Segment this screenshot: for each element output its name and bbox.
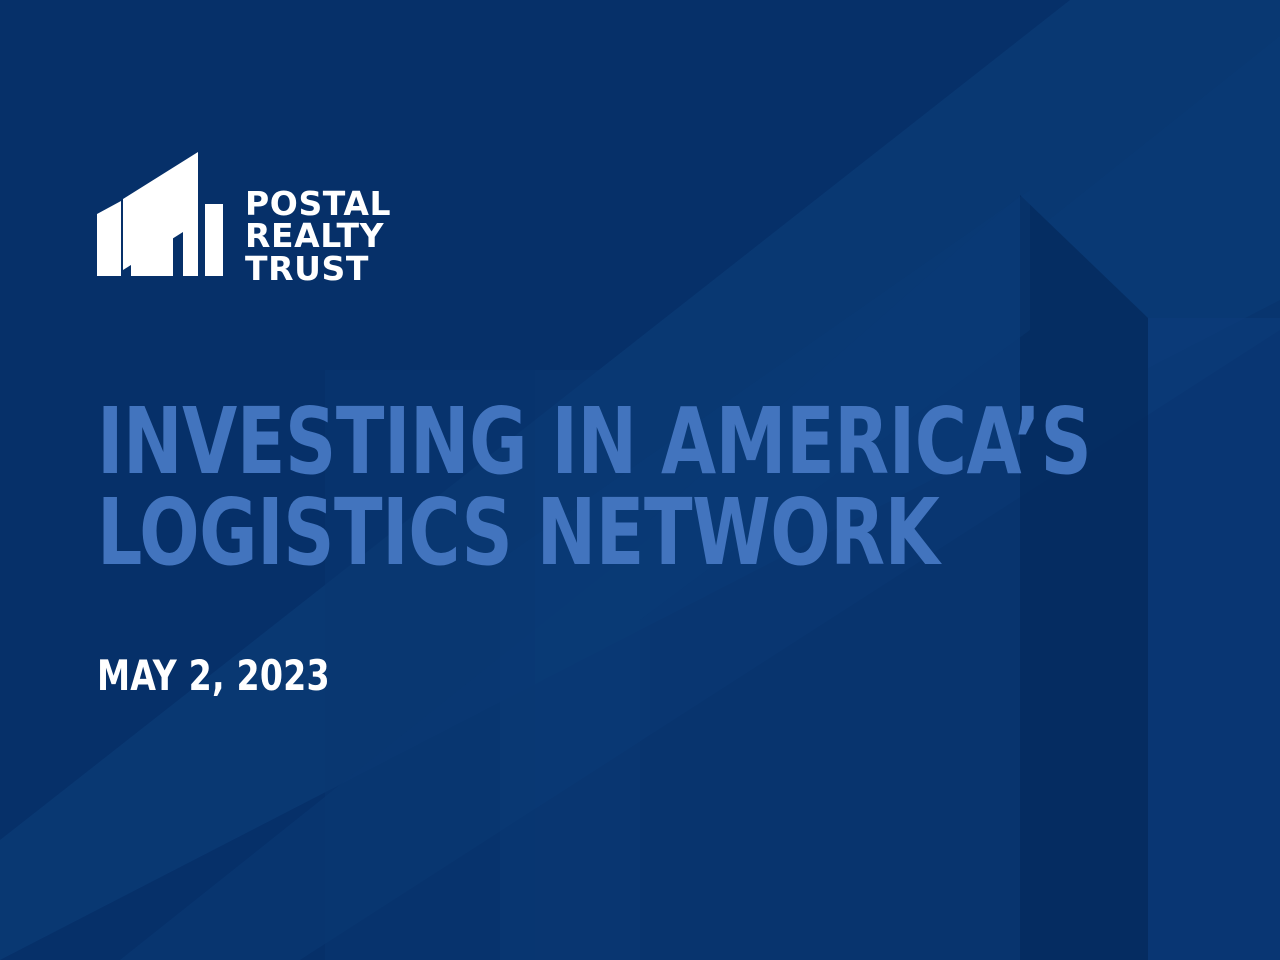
logo-wordmark-line-2: REALTY (245, 220, 391, 252)
logo-wordmark-line-3: TRUST (245, 253, 391, 285)
slide-headline: INVESTING IN AMERICA’S LOGISTICS NETWORK (97, 396, 1197, 578)
slide-date: MAY 2, 2023 (97, 655, 330, 697)
postal-realty-trust-logo-icon (97, 146, 223, 276)
headline-line-1: INVESTING IN AMERICA’S (97, 396, 1043, 487)
headline-line-2: LOGISTICS NETWORK (97, 487, 1043, 578)
logo-wordmark: POSTAL REALTY TRUST (245, 188, 391, 285)
logo-left-pillar (97, 201, 121, 276)
logo-right-pillar (205, 204, 223, 276)
title-slide: POSTAL REALTY TRUST INVESTING IN AMERICA… (0, 0, 1280, 960)
logo-lockup: POSTAL REALTY TRUST (97, 146, 391, 285)
